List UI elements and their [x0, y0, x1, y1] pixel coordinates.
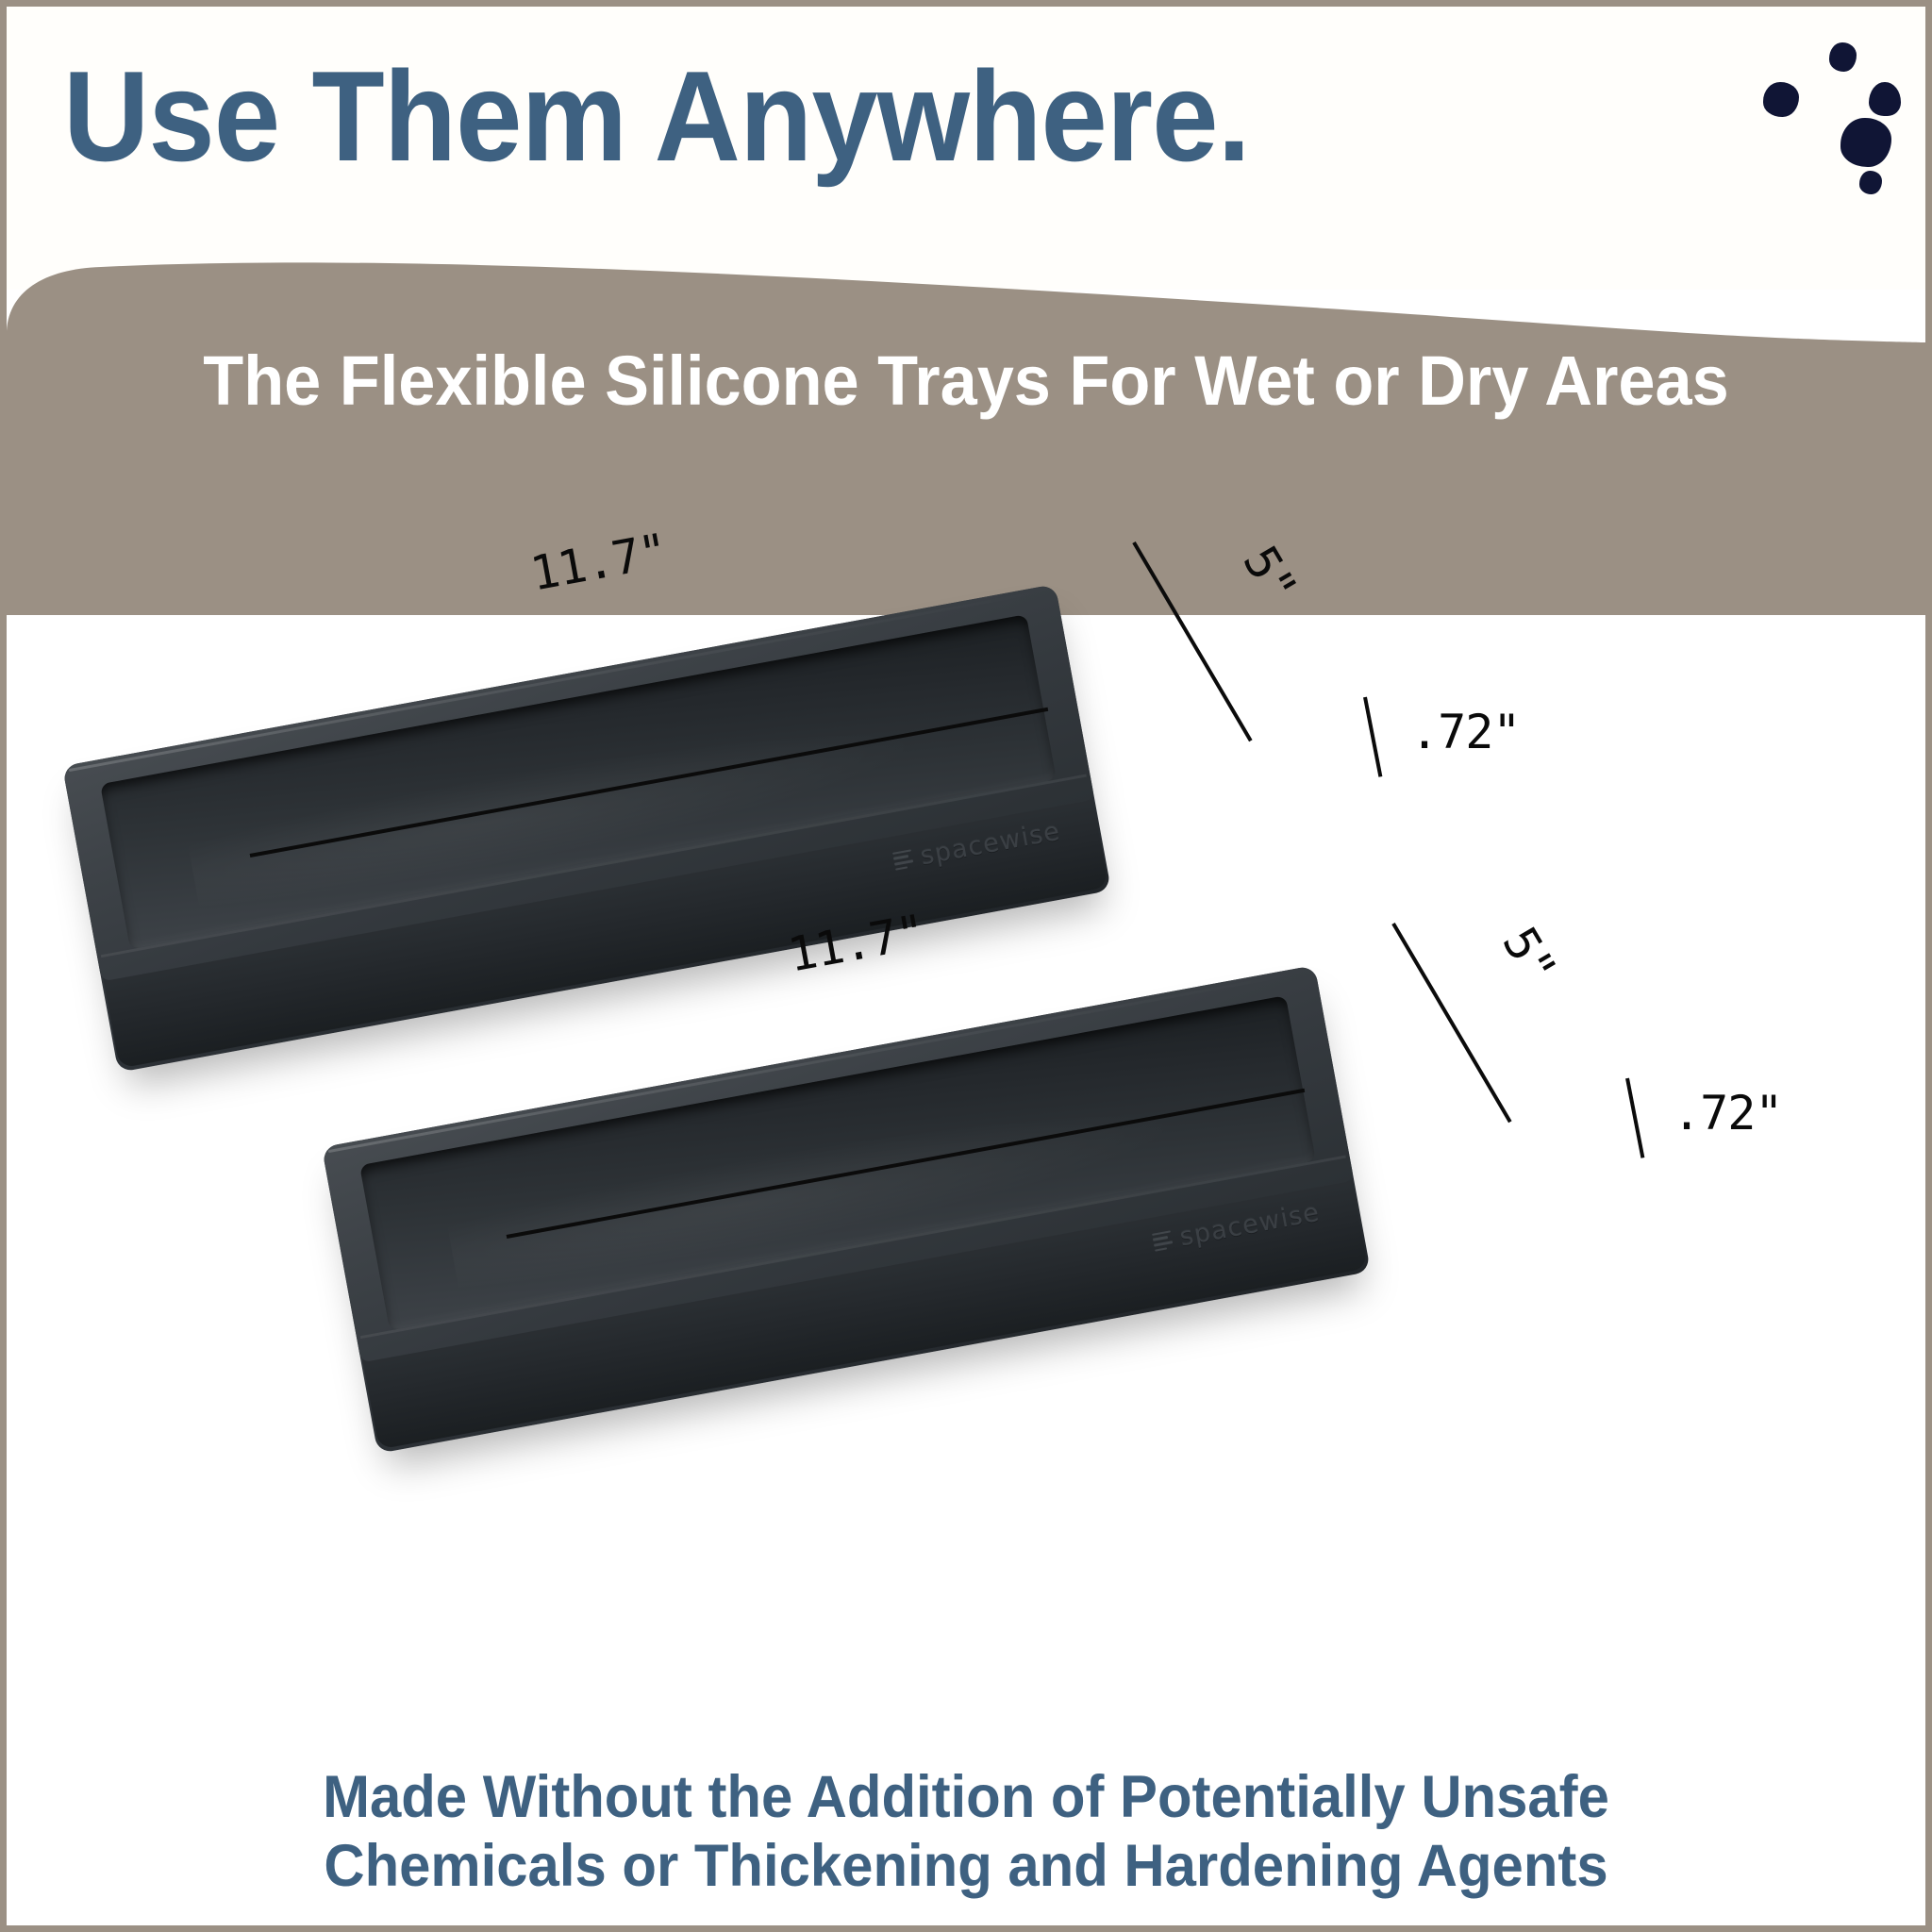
dimension-label-height-upper: .72"	[1410, 705, 1520, 759]
product-illustration-area: spacewise 11.7" 5" .72" spacewise	[7, 618, 1925, 1759]
banner-shape	[7, 224, 1925, 620]
subtitle-banner: The Flexible Silicone Trays For Wet or D…	[7, 224, 1925, 620]
footer-line-1: Made Without the Addition of Potentially…	[55, 1763, 1877, 1832]
dimension-label-width-lower: 5"	[1491, 918, 1567, 993]
footer-line-2: Chemicals or Thickening and Hardening Ag…	[55, 1832, 1877, 1901]
dot-icon	[1840, 118, 1891, 167]
tray-upper: spacewise	[62, 584, 1111, 1073]
dot-icon	[1763, 82, 1799, 117]
dot-icon	[1859, 171, 1882, 194]
decorative-dots-cluster	[1742, 20, 1922, 199]
product-infographic: Use Them Anywhere. The Flexible Silicone…	[0, 0, 1932, 1932]
lines-logo-icon	[1151, 1228, 1174, 1254]
tray-lower: spacewise	[322, 965, 1371, 1454]
dimension-label-height-lower: .72"	[1673, 1086, 1782, 1141]
dimension-line-width-lower	[1391, 923, 1511, 1123]
lines-logo-icon	[891, 847, 914, 873]
dimension-line-height-upper	[1363, 697, 1382, 777]
page-title: Use Them Anywhere.	[63, 52, 1250, 180]
dot-icon	[1829, 42, 1857, 72]
banner-subtitle: The Flexible Silicone Trays For Wet or D…	[55, 341, 1877, 421]
footer-caption: Made Without the Addition of Potentially…	[55, 1763, 1877, 1901]
dot-icon	[1869, 82, 1901, 116]
dimension-line-height-lower	[1625, 1078, 1644, 1158]
